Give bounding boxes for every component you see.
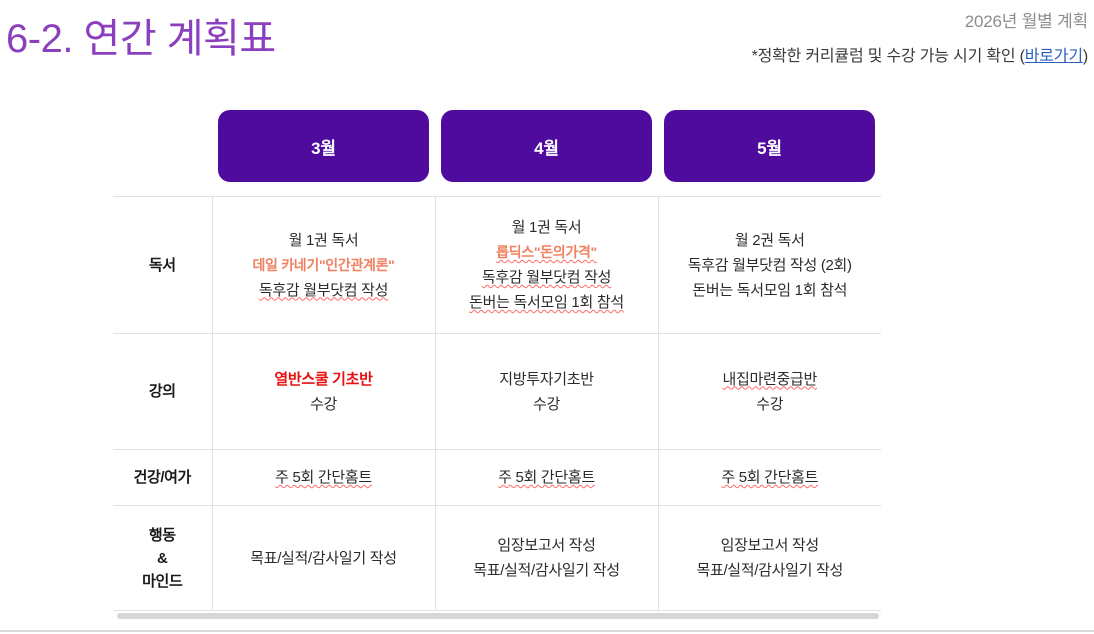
cell-line: 독후감 월부닷컴 작성 (2회) <box>663 253 878 278</box>
row-label-line: 마인드 <box>117 570 208 593</box>
cell-action-march[interactable]: 목표/실적/감사일기 작성 <box>212 506 435 611</box>
row-label-lecture: 강의 <box>113 334 212 450</box>
table-row: 강의 열반스쿨 기초반 수강 지방투자기초반 수강 내집마련중 <box>113 334 881 450</box>
month-pill-april[interactable]: 4월 <box>441 110 652 182</box>
cell-line: 주 5회 간단홈트 <box>663 465 878 490</box>
curriculum-link[interactable]: 바로가기 <box>1025 48 1083 65</box>
cell-line: 수강 <box>440 392 654 417</box>
month-pill-march[interactable]: 3월 <box>218 110 429 182</box>
cell-line: 데일 카네기"인간관계론" <box>217 253 431 278</box>
month-header-row: 3월 4월 5월 <box>113 110 881 188</box>
cell-line: 내집마련중급반 <box>663 367 878 392</box>
row-label-action-mind: 행동 & 마인드 <box>113 506 212 611</box>
plan-year-subtitle: 2026년 월별 계획 <box>752 10 1088 34</box>
bottom-divider <box>0 630 1094 632</box>
row-label-health: 건강/여가 <box>113 450 212 506</box>
page-title: 6-2. 연간 계획표 <box>6 6 276 64</box>
cell-line: 주 5회 간단홈트 <box>440 465 654 490</box>
cell-line: 돈버는 독서모임 1회 참석 <box>663 278 878 303</box>
cell-line: 월 1권 독서 <box>440 215 654 240</box>
cell-reading-april[interactable]: 월 1권 독서 롭딕스"돈의가격" 독후감 월부닷컴 작성 돈버는 독서모임 1… <box>435 197 658 334</box>
row-label-line: & <box>117 547 208 570</box>
page-header: 6-2. 연간 계획표 2026년 월별 계획 *정확한 커리큘럼 및 수강 가… <box>0 0 1094 96</box>
month-header-cell-2: 4월 <box>435 110 658 188</box>
cell-line: 독후감 월부닷컴 작성 <box>440 265 654 290</box>
month-header-cell-3: 5월 <box>658 110 881 188</box>
curriculum-note-prefix: *정확한 커리큘럼 및 수강 가능 시기 확인 ( <box>752 48 1025 65</box>
cell-health-march[interactable]: 주 5회 간단홈트 <box>212 450 435 506</box>
cell-line: 돈버는 독서모임 1회 참석 <box>440 290 654 315</box>
cell-reading-march[interactable]: 월 1권 독서 데일 카네기"인간관계론" 독후감 월부닷컴 작성 <box>212 197 435 334</box>
cell-action-may[interactable]: 임장보고서 작성 목표/실적/감사일기 작성 <box>658 506 881 611</box>
cell-line: 목표/실적/감사일기 작성 <box>440 558 654 583</box>
cell-reading-may[interactable]: 월 2권 독서 독후감 월부닷컴 작성 (2회) 돈버는 독서모임 1회 참석 <box>658 197 881 334</box>
annual-plan-table: 독서 월 1권 독서 데일 카네기"인간관계론" 독후감 월부닷컴 작성 월 1… <box>113 196 881 611</box>
cell-line: 수강 <box>663 392 878 417</box>
curriculum-note: *정확한 커리큘럼 및 수강 가능 시기 확인 (바로가기) <box>752 46 1088 68</box>
table-row: 건강/여가 주 5회 간단홈트 주 5회 간단홈트 주 5회 간단홈트 <box>113 450 881 506</box>
row-label-line: 건강/여가 <box>117 466 208 489</box>
row-label-reading: 독서 <box>113 197 212 334</box>
table-row: 행동 & 마인드 목표/실적/감사일기 작성 임장보고서 작성 목표/실적/감사… <box>113 506 881 611</box>
cell-line: 임장보고서 작성 <box>663 533 878 558</box>
cell-line: 목표/실적/감사일기 작성 <box>217 546 431 571</box>
month-pill-may[interactable]: 5월 <box>664 110 875 182</box>
row-label-line: 독서 <box>117 254 208 277</box>
cell-line: 지방투자기초반 <box>440 367 654 392</box>
cell-line: 임장보고서 작성 <box>440 533 654 558</box>
cell-line: 월 2권 독서 <box>663 228 878 253</box>
cell-line: 독후감 월부닷컴 작성 <box>217 278 431 303</box>
table-row: 독서 월 1권 독서 데일 카네기"인간관계론" 독후감 월부닷컴 작성 월 1… <box>113 197 881 334</box>
cell-line: 열반스쿨 기초반 <box>217 367 431 392</box>
month-header-cell-1: 3월 <box>212 110 435 188</box>
curriculum-note-suffix: ) <box>1083 48 1088 65</box>
row-label-line: 행동 <box>117 524 208 547</box>
cell-line: 목표/실적/감사일기 작성 <box>663 558 878 583</box>
cell-line: 주 5회 간단홈트 <box>217 465 431 490</box>
cell-action-april[interactable]: 임장보고서 작성 목표/실적/감사일기 작성 <box>435 506 658 611</box>
cell-lecture-april[interactable]: 지방투자기초반 수강 <box>435 334 658 450</box>
header-right-block: 2026년 월별 계획 *정확한 커리큘럼 및 수강 가능 시기 확인 (바로가… <box>752 10 1088 68</box>
month-header-spacer <box>113 110 212 188</box>
cell-line: 수강 <box>217 392 431 417</box>
cell-health-april[interactable]: 주 5회 간단홈트 <box>435 450 658 506</box>
cell-lecture-march[interactable]: 열반스쿨 기초반 수강 <box>212 334 435 450</box>
annual-plan-page: 6-2. 연간 계획표 2026년 월별 계획 *정확한 커리큘럼 및 수강 가… <box>0 0 1094 634</box>
cell-line: 롭딕스"돈의가격" <box>440 240 654 265</box>
cell-health-may[interactable]: 주 5회 간단홈트 <box>658 450 881 506</box>
cell-lecture-may[interactable]: 내집마련중급반 수강 <box>658 334 881 450</box>
row-label-line: 강의 <box>117 380 208 403</box>
cell-line: 월 1권 독서 <box>217 228 431 253</box>
horizontal-scrollbar[interactable] <box>117 613 879 619</box>
